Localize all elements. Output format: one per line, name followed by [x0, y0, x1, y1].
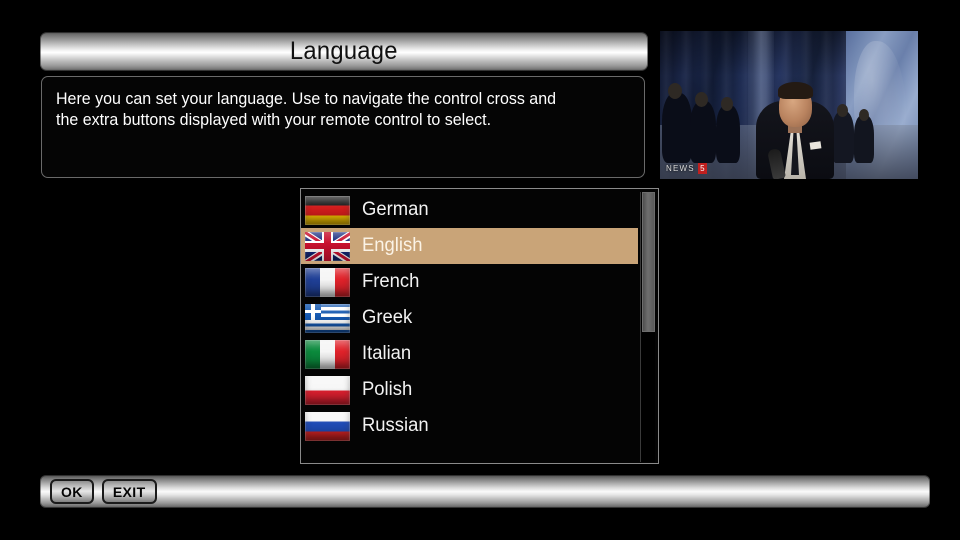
preview-crowd-figure [662, 93, 692, 163]
language-option-label: French [362, 271, 419, 293]
language-list: GermanEnglishFrenchGreekItalianPolishRus… [301, 192, 638, 444]
flag-gr-icon [305, 304, 350, 333]
language-option-russian[interactable]: Russian [301, 408, 638, 444]
exit-button[interactable]: EXIT [102, 479, 157, 504]
language-option-italian[interactable]: Italian [301, 336, 638, 372]
live-tv-preview[interactable]: NEWS 5 [660, 31, 918, 179]
ok-button[interactable]: OK [50, 479, 94, 504]
language-option-label: English [362, 235, 422, 257]
language-option-english[interactable]: English [301, 228, 638, 264]
action-bar: OK EXIT [40, 475, 930, 508]
flag-de-icon [305, 196, 350, 225]
language-list-panel[interactable]: GermanEnglishFrenchGreekItalianPolishRus… [300, 188, 659, 464]
flag-fr-icon [305, 268, 350, 297]
preview-crowd-figure [716, 105, 740, 163]
preview-crowd-head [859, 109, 869, 121]
tv-settings-screen: Language Here you can set your language.… [0, 0, 960, 540]
flag-gb-icon [305, 232, 350, 261]
flag-it-icon [305, 340, 350, 369]
preview-crowd-head [668, 83, 682, 99]
language-option-label: Polish [362, 379, 412, 401]
broadcaster-logo: NEWS 5 [666, 163, 707, 174]
preview-crowd-figure [690, 101, 716, 163]
list-scrollbar-thumb[interactable] [642, 192, 655, 332]
flag-ru-icon [305, 412, 350, 441]
preview-reporter-hair [778, 82, 813, 99]
preview-crowd-figure [832, 111, 854, 163]
list-scrollbar-track[interactable] [640, 192, 655, 462]
language-option-greek[interactable]: Greek [301, 300, 638, 336]
language-option-french[interactable]: French [301, 264, 638, 300]
preview-crowd-head [721, 97, 733, 111]
preview-crowd-figure [854, 115, 874, 163]
language-option-label: Greek [362, 307, 412, 329]
channel-number-badge: 5 [698, 163, 707, 174]
language-option-label: Italian [362, 343, 411, 365]
flag-pl-icon [305, 376, 350, 405]
preview-crowd-head [837, 104, 848, 117]
language-option-german[interactable]: German [301, 192, 638, 228]
language-option-label: German [362, 199, 429, 221]
page-title: Language [290, 37, 398, 66]
preview-crowd-head [695, 92, 708, 107]
language-option-label: Russian [362, 415, 429, 437]
broadcaster-name: NEWS [666, 164, 695, 173]
description-panel: Here you can set your language. Use to n… [41, 76, 645, 178]
page-title-bar: Language [40, 32, 648, 71]
description-text: Here you can set your language. Use to n… [56, 89, 613, 131]
language-option-polish[interactable]: Polish [301, 372, 638, 408]
